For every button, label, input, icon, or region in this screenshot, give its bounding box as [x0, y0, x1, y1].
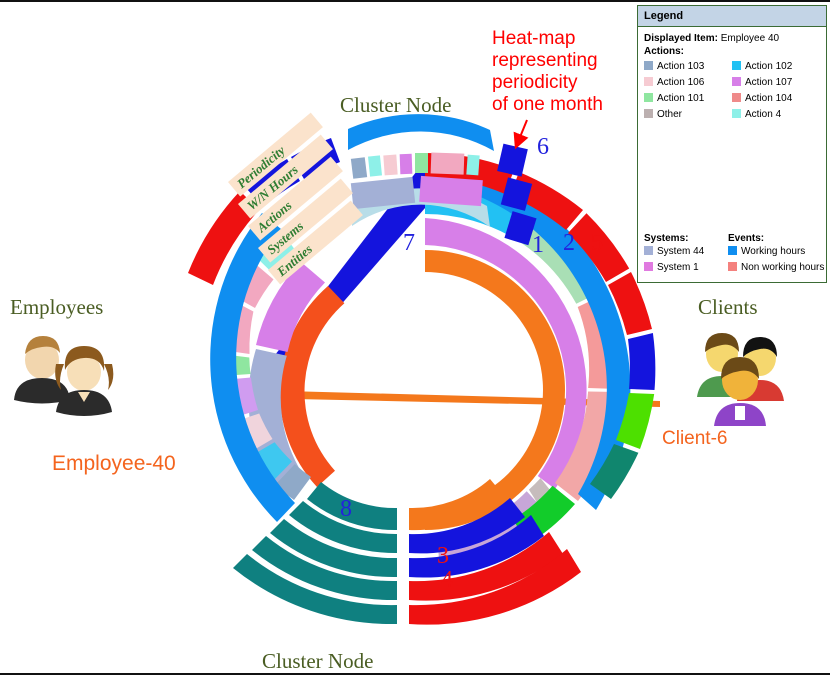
swatch-system-44 — [644, 246, 653, 255]
employees-label: Employees — [10, 295, 103, 319]
marker-1: 1 — [532, 232, 544, 258]
cluster-node-bottom-label: Cluster Node — [262, 649, 373, 673]
displayed-item-value: Employee 40 — [721, 33, 779, 44]
legend-item-system-44: System 44 — [644, 244, 728, 260]
legend-item-other: Other — [644, 107, 732, 123]
swatch-action-106 — [644, 77, 653, 86]
cluster-node-bottom-arcs — [233, 482, 397, 624]
footer-row-2: System 1 Non working hours — [644, 260, 822, 276]
marker-7: 7 — [403, 230, 415, 256]
systems-heading: Systems: — [644, 233, 728, 244]
displayed-item-row: Displayed Item: Employee 40 — [644, 33, 820, 44]
heatmap-arrow-icon — [518, 120, 527, 142]
marker-8: 8 — [340, 496, 352, 522]
actions-heading: Actions: — [644, 46, 820, 57]
legend-label-action-106: Action 106 — [657, 77, 704, 88]
employee-focus-label: Employee-40 — [52, 452, 176, 475]
legend-label-working-hours: Working hours — [741, 246, 805, 257]
heatmap-note-line-0: Heat-map — [492, 28, 575, 49]
legend-item-non-working-hours: Non working hours — [728, 260, 822, 276]
legend-label-non-working-hours: Non working hours — [741, 262, 824, 273]
legend-label-action-102: Action 102 — [745, 61, 792, 72]
legend-panel: Legend Displayed Item: Employee 40 Actio… — [637, 5, 827, 283]
legend-label-system-44: System 44 — [657, 246, 704, 257]
legend-item-action-107: Action 107 — [732, 75, 820, 91]
client-focus-label: Client-6 — [662, 428, 727, 449]
swatch-other — [644, 109, 653, 118]
swatch-action-101 — [644, 93, 653, 102]
swatch-action-107 — [732, 77, 741, 86]
legend-label-action-103: Action 103 — [657, 61, 704, 72]
legend-title: Legend — [638, 6, 826, 27]
swatch-action-104 — [732, 93, 741, 102]
heatmap-note-line-3: of one month — [492, 94, 603, 115]
events-heading: Events: — [728, 233, 822, 244]
legend-label-action-107: Action 107 — [745, 77, 792, 88]
legend-item-system-1: System 1 — [644, 260, 728, 276]
heatmap-note-line-1: representing — [492, 50, 598, 71]
legend-item-action-4: Action 4 — [732, 107, 820, 123]
legend-label-action-104: Action 104 — [745, 93, 792, 104]
footer-row-1: System 44 Working hours — [644, 244, 822, 260]
legend-item-action-106: Action 106 — [644, 75, 732, 91]
heatmap-annotation: Heat-map representing periodicity of one… — [492, 28, 603, 142]
clients-label: Clients — [698, 295, 758, 319]
heatmap-note-line-2: periodicity — [492, 72, 578, 93]
displayed-item-label: Displayed Item: — [644, 33, 718, 44]
legend-label-other: Other — [657, 109, 682, 120]
marker-4: 4 — [441, 567, 453, 593]
swatch-working-hours — [728, 246, 737, 255]
legend-label-action-101: Action 101 — [657, 93, 704, 104]
clients-icon — [697, 333, 784, 426]
footer-headings: Systems: Events: — [644, 233, 822, 244]
employees-icon — [14, 336, 113, 416]
marker-3: 3 — [437, 543, 449, 569]
marker-2: 2 — [563, 230, 575, 256]
actions-legend-grid: Action 103 Action 102 Action 106 Action … — [644, 59, 820, 123]
marker-5: 5 — [591, 230, 603, 256]
legend-label-action-4: Action 4 — [745, 109, 781, 120]
legend-item-action-101: Action 101 — [644, 91, 732, 107]
visualization-root: Periodicity W/N Hours Actions Systems En… — [0, 0, 830, 675]
legend-item-working-hours: Working hours — [728, 244, 822, 260]
swatch-non-working-hours — [728, 262, 737, 271]
cluster-node-top-label: Cluster Node — [340, 93, 451, 117]
legend-item-action-103: Action 103 — [644, 59, 732, 75]
swatch-system-1 — [644, 262, 653, 271]
legend-footer: Systems: Events: System 44 Working hours… — [644, 233, 822, 276]
legend-item-action-104: Action 104 — [732, 91, 820, 107]
legend-label-system-1: System 1 — [657, 262, 699, 273]
swatch-action-103 — [644, 61, 653, 70]
legend-item-action-102: Action 102 — [732, 59, 820, 75]
swatch-action-102 — [732, 61, 741, 70]
swatch-action-4 — [732, 109, 741, 118]
marker-6: 6 — [537, 134, 549, 160]
